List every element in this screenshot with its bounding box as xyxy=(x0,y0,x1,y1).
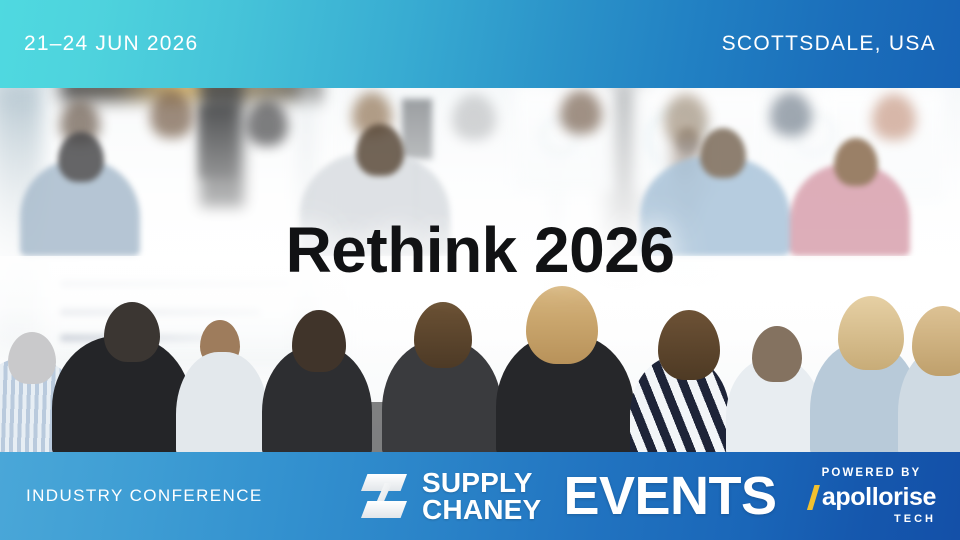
dark-panel xyxy=(200,106,234,178)
brand-name-line2: CHANEY xyxy=(422,496,541,523)
apollorise-name: apollorise xyxy=(822,483,936,512)
apollorise-logo: apollorise xyxy=(807,483,936,512)
powered-by-block: POWERED BY apollorise TECH xyxy=(807,452,936,540)
brand-name-line1: SUPPLY xyxy=(422,469,541,496)
apollorise-tech-suffix: TECH xyxy=(894,513,936,525)
apollorise-slash-icon xyxy=(807,485,820,510)
event-title: Rethink 2026 xyxy=(0,218,960,282)
brand-name: SUPPLY CHANEY xyxy=(422,469,541,524)
event-banner: 21–24 JUN 2026 SCOTTSDALE, USA xyxy=(0,0,960,540)
logo-bar-bottom xyxy=(361,501,407,518)
brand-lockup: SUPPLY CHANEY EVENTS xyxy=(358,452,777,540)
event-location: SCOTTSDALE, USA xyxy=(722,32,936,56)
event-dates: 21–24 JUN 2026 xyxy=(24,32,198,56)
top-info-bar: 21–24 JUN 2026 SCOTTSDALE, USA xyxy=(0,0,960,88)
supply-chaney-s-logo-icon xyxy=(358,470,410,522)
audience-crowd xyxy=(0,256,960,456)
event-category: INDUSTRY CONFERENCE xyxy=(0,486,263,506)
hero-title-container: Rethink 2026 xyxy=(0,218,960,282)
powered-by-label: POWERED BY xyxy=(822,467,922,479)
bottom-brand-bar: INDUSTRY CONFERENCE SUPPLY CHANEY EVENTS… xyxy=(0,452,960,540)
wall-monitor xyxy=(399,96,435,162)
brand-product-events: EVENTS xyxy=(563,465,776,527)
